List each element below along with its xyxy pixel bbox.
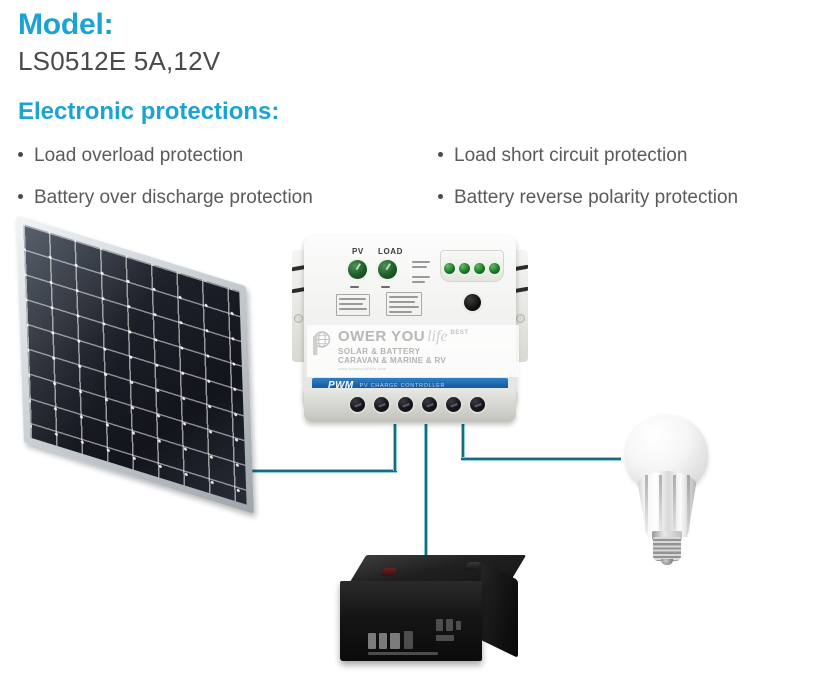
pv-indicator xyxy=(348,260,367,279)
battery-spec-mark xyxy=(436,635,454,641)
status-led-4 xyxy=(489,263,500,274)
load-label: LOAD xyxy=(378,247,403,256)
bullet-icon xyxy=(18,152,23,157)
terminal-screw-1[interactable] xyxy=(350,397,365,412)
protections-list-left: Load overload protection Battery over di… xyxy=(18,145,438,229)
battery-label-mark xyxy=(368,633,376,649)
battery-label-mark xyxy=(379,633,387,649)
battery-footer-mark xyxy=(368,652,438,655)
list-item-label: Load short circuit protection xyxy=(454,145,687,167)
wire-panel-to-terminal xyxy=(393,424,397,471)
led-lamp xyxy=(612,415,722,565)
list-item: Load short circuit protection xyxy=(438,145,816,167)
watermark-badge: BEST xyxy=(451,330,469,336)
load-indicator xyxy=(378,260,397,279)
status-led-1 xyxy=(444,263,455,274)
spec-print-line xyxy=(389,311,412,313)
watermark-line-3: CARAVAN & MARINE & RV xyxy=(338,356,515,365)
battery xyxy=(338,555,528,667)
model-number: LS0512E 5A,12V xyxy=(18,46,220,77)
heatsink-fin xyxy=(659,475,662,533)
terminal-screw-6[interactable] xyxy=(470,397,485,412)
battery-spec-mark xyxy=(446,619,453,631)
list-item-label: Battery reverse polarity protection xyxy=(454,187,738,209)
watermark-brand: OWER YOU xyxy=(338,328,425,345)
pv-label: PV xyxy=(352,247,364,256)
battery-label-mark xyxy=(390,633,400,649)
list-item: Battery reverse polarity protection xyxy=(438,187,816,209)
terminal-screw-5[interactable] xyxy=(446,397,461,412)
mode-legend-line xyxy=(412,276,430,278)
spec-print-line xyxy=(389,301,415,303)
battery-spec-mark xyxy=(436,619,443,631)
mode-legend-line xyxy=(412,281,425,283)
bullet-icon xyxy=(438,194,443,199)
watermark: OWER YOU life BEST SOLAR & BATTERY CARAV… xyxy=(307,325,519,377)
bulb-screw-base xyxy=(653,537,681,561)
product-infographic: Model: LS0512E 5A,12V Electronic protect… xyxy=(0,0,816,700)
wire-battery xyxy=(424,424,428,555)
watermark-brand-script: life xyxy=(427,328,447,346)
battery-side xyxy=(481,562,518,658)
mode-button[interactable] xyxy=(464,294,481,311)
terminal-screw-3[interactable] xyxy=(398,397,413,412)
protections-list-right: Load short circuit protection Battery re… xyxy=(438,145,816,229)
section-title-protections: Electronic protections: xyxy=(18,98,279,126)
battery-spec-mark xyxy=(456,621,461,630)
list-item-label: Load overload protection xyxy=(34,145,243,167)
status-led-2 xyxy=(459,263,470,274)
terminal-screw-2[interactable] xyxy=(374,397,389,412)
list-item: Load overload protection xyxy=(18,145,438,167)
bullet-icon xyxy=(18,194,23,199)
spec-print-line xyxy=(389,306,419,308)
pv-symbol-print xyxy=(350,286,359,288)
panel-frame xyxy=(16,215,254,514)
heatsink-fin xyxy=(645,475,648,533)
bullet-icon xyxy=(438,152,443,157)
spec-print-line xyxy=(389,296,418,298)
spec-print-line xyxy=(339,298,366,300)
terminal-screw-4[interactable] xyxy=(422,397,437,412)
bulb-contact-tip xyxy=(661,559,673,565)
heatsink-fin xyxy=(687,475,690,533)
wire-load-horizontal xyxy=(461,457,621,461)
load-symbol-print xyxy=(381,286,390,288)
status-led-3 xyxy=(474,263,485,274)
mounting-hole-right xyxy=(516,314,525,323)
mode-legend-line xyxy=(412,266,427,268)
watermark-line-2: SOLAR & BATTERY xyxy=(338,347,515,356)
heatsink-fin xyxy=(673,475,676,533)
watermark-text: OWER YOU life BEST SOLAR & BATTERY CARAV… xyxy=(338,328,515,371)
list-item-label: Battery over discharge protection xyxy=(34,187,313,209)
wire-load-vertical xyxy=(461,424,465,460)
panel-glare xyxy=(23,224,246,504)
spec-print-line xyxy=(339,308,367,310)
list-item: Battery over discharge protection xyxy=(18,187,438,209)
watermark-line-4: www.poweryourlife.com xyxy=(338,366,515,371)
bulb-heatsink xyxy=(633,471,701,537)
battery-label-mark xyxy=(404,631,413,649)
spec-print-line xyxy=(339,303,363,305)
solar-panel xyxy=(16,215,254,514)
mounting-hole-left xyxy=(294,314,303,323)
watermark-line-1: OWER YOU life BEST xyxy=(338,328,515,346)
page-title: Model: xyxy=(18,8,113,42)
globe-icon xyxy=(311,330,337,356)
mode-legend-line xyxy=(412,261,430,263)
